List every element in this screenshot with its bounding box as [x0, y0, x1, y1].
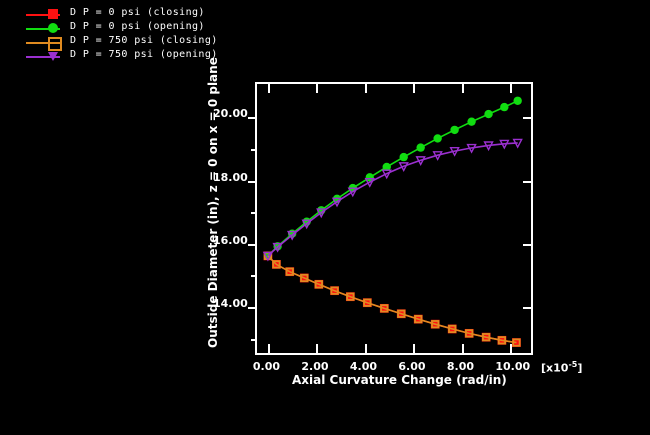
x-axis-tick: [510, 344, 512, 353]
x-axis-tick-top: [316, 84, 318, 93]
x-axis-tick: [316, 344, 318, 353]
x-axis-tick-top: [462, 84, 464, 93]
x-axis-tick: [268, 344, 270, 353]
x-axis-exponent: [x10-5]: [541, 360, 582, 375]
legend-item-label: D P = 750 psi (closing): [70, 35, 218, 46]
x-axis-tick-top: [413, 84, 415, 93]
data-lines: [257, 84, 531, 353]
x-axis-tick-label: 6.00: [398, 360, 425, 373]
data-point: [450, 126, 458, 134]
x-axis-tick-label: 8.00: [447, 360, 474, 373]
x-axis-tick-label: 0.00: [253, 360, 280, 373]
y-axis-tick-label: 20.00: [213, 107, 650, 120]
x-axis-tick: [413, 344, 415, 353]
y-axis-tick-label: 16.00: [213, 234, 650, 247]
data-point: [433, 134, 441, 142]
x-axis-tick: [462, 344, 464, 353]
chart-canvas: D P = 0 psi (closing) D P = 0 psi (openi…: [0, 0, 650, 435]
x-axis-tick-label: 10.00: [495, 360, 530, 373]
open-triangle-icon: [48, 52, 58, 61]
x-axis-tick: [365, 344, 367, 353]
x-axis-tick-top: [268, 84, 270, 93]
y-axis-minor-tick: [251, 149, 257, 151]
open-square-icon: [48, 37, 62, 51]
legend-item-label: D P = 750 psi (opening): [70, 49, 218, 60]
x-axis-tick-top: [510, 84, 512, 93]
y-axis-minor-tick: [251, 339, 257, 341]
y-axis-minor-tick: [251, 275, 257, 277]
y-axis-tick-label: 14.00: [213, 297, 650, 310]
x-axis-tick-label: 4.00: [350, 360, 377, 373]
data-point: [399, 153, 407, 161]
filled-circle-icon: [48, 23, 58, 33]
y-axis-minor-tick: [251, 212, 257, 214]
legend-item-label: D P = 0 psi (opening): [70, 21, 205, 32]
x-axis-label: Axial Curvature Change (rad/in): [292, 373, 507, 387]
legend-item-label: D P = 0 psi (closing): [70, 7, 205, 18]
x-axis-tick-top: [365, 84, 367, 93]
data-point: [513, 97, 521, 105]
plot-area: [255, 82, 533, 355]
x-axis-tick-label: 2.00: [301, 360, 328, 373]
data-point: [416, 143, 424, 151]
filled-square-icon: [48, 9, 58, 19]
y-axis-tick-label: 18.00: [213, 171, 650, 184]
